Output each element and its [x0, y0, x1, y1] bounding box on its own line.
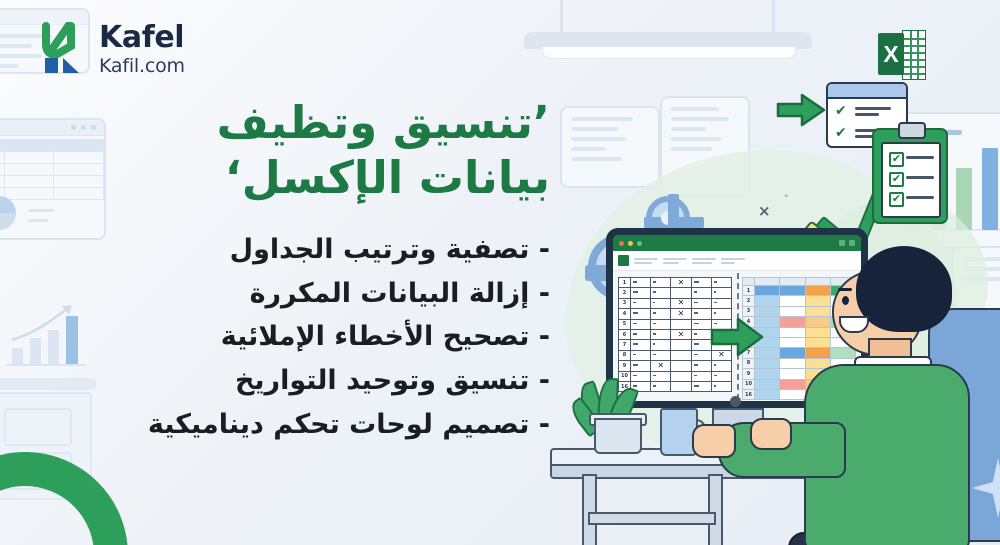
person-hair: [856, 246, 952, 332]
cell-text: [653, 343, 655, 345]
table-cell: [631, 361, 651, 371]
cell-text: [694, 333, 697, 335]
table-cell: [711, 288, 731, 298]
table-row: 9✕: [619, 361, 732, 371]
table-cell: [755, 306, 780, 316]
row-number: 3: [743, 306, 755, 316]
list-item: - تصحيح الأخطاء الإملائية: [40, 315, 550, 359]
row-number: 3: [619, 298, 631, 308]
monitor-camera-dot: [730, 396, 741, 407]
cell-text: [653, 354, 656, 356]
cell-text: [694, 281, 699, 283]
cell-text: [653, 291, 656, 293]
service-list: - تصفية وترتيب الجداول - إزالة البيانات …: [40, 228, 550, 447]
table-cell: ✕: [671, 278, 691, 288]
table-cell: [711, 278, 731, 288]
row-number: 10: [743, 379, 755, 389]
headline-line-1: ’تنسيق وتظيف: [40, 96, 550, 151]
table-cell: [651, 288, 671, 298]
person-at-desk-icon: [784, 246, 1000, 545]
cell-text: [653, 281, 656, 283]
cell-text: [633, 333, 637, 335]
row-number: 5: [619, 319, 631, 329]
table-cell: ✕: [671, 309, 691, 319]
cell-text: [653, 302, 655, 304]
cell-text: [694, 354, 698, 356]
workstation-illustration: × + ° ° ✔ ✔ ✔: [540, 60, 1000, 545]
cell-text: [633, 312, 638, 314]
cell-text: [633, 302, 636, 304]
ceiling-lamp-icon: [524, 0, 812, 60]
person-hand: [692, 424, 736, 458]
copy-block: ’تنسيق وتظيف بيانات الإكسل‘ - تصفية وترت…: [40, 96, 550, 446]
table-cell: [631, 319, 651, 329]
cell-text: [714, 312, 716, 314]
table-cell: [691, 371, 711, 381]
page-title: ’تنسيق وتظيف بيانات الإكسل‘: [40, 96, 550, 206]
row-number: 2: [619, 288, 631, 298]
cell-text: [694, 364, 699, 366]
brand-logo[interactable]: Kafel Kafil.com: [36, 22, 185, 76]
row-number: 1: [619, 278, 631, 288]
strikeout-icon: ✕: [678, 299, 685, 307]
table-cell: [671, 371, 691, 381]
cell-text: [633, 375, 637, 377]
table-cell: [651, 350, 671, 360]
cell-text: [633, 281, 637, 283]
row-number: 1: [743, 286, 755, 296]
table-cell: [691, 319, 711, 329]
table-cell: [671, 381, 691, 391]
cell-text: [694, 323, 699, 325]
table-row: 2: [619, 288, 732, 298]
check-icon: ✔: [835, 127, 847, 139]
cell-text: [653, 385, 656, 387]
table-cell: [755, 389, 780, 399]
cell-text: [653, 333, 656, 335]
check-icon: ✔: [889, 172, 904, 187]
table-cell: [691, 361, 711, 371]
cell-text: [633, 343, 638, 345]
cell-text: [653, 312, 656, 314]
cell-text: [714, 385, 717, 387]
desk-leg-right: [708, 474, 723, 545]
table-cell: [691, 278, 711, 288]
person-eye: [842, 296, 849, 305]
desk-leg-left: [582, 474, 597, 545]
table-cell: [691, 309, 711, 319]
green-arc-shape: [0, 452, 128, 545]
table-cell: [755, 379, 780, 389]
cell-text: [714, 291, 717, 293]
sparkle-icon: ×: [758, 202, 771, 220]
banner-canvas: Kafel Kafil.com X ’تنسيق وتظيف بيانات ال…: [0, 0, 1000, 545]
table-cell: [755, 369, 780, 379]
strikeout-icon: ✕: [657, 362, 664, 370]
cell-text: [633, 364, 638, 366]
table-cell: [711, 298, 731, 308]
strikeout-icon: ✕: [678, 331, 685, 339]
table-cell: [631, 298, 651, 308]
table-cell: [691, 298, 711, 308]
cell-text: [694, 385, 699, 387]
table-cell: [651, 319, 671, 329]
table-cell: [691, 329, 711, 339]
table-cell: [671, 288, 691, 298]
kafel-k-logo-icon: [36, 22, 88, 76]
cell-text: [694, 375, 698, 377]
table-cell: [631, 350, 651, 360]
row-number: 9: [619, 361, 631, 371]
table-cell: ✕: [671, 298, 691, 308]
table-cell: [651, 309, 671, 319]
table-cell: [631, 340, 651, 350]
row-number: 9: [743, 369, 755, 379]
table-cell: [755, 296, 780, 306]
green-right-arrow-icon: [776, 93, 826, 127]
table-cell: [671, 319, 691, 329]
sparkle-icon: °: [784, 194, 789, 204]
table-cell: [691, 340, 711, 350]
table-cell: [671, 350, 691, 360]
table-cell: [755, 358, 780, 368]
excel-logo-icon: [618, 255, 629, 266]
table-cell: [651, 298, 671, 308]
row-number: 8: [743, 358, 755, 368]
cell-text: [653, 323, 656, 325]
pie-chart-icon: [0, 196, 16, 230]
green-right-arrow-icon: [710, 317, 764, 357]
table-cell: [651, 381, 671, 391]
table-row: 1✕: [619, 278, 732, 288]
clip-icon: [898, 122, 926, 139]
cell-text: [633, 291, 638, 293]
clipboard-checklist-icon: ✔ ✔ ✔: [872, 128, 948, 224]
cell-text: [653, 375, 656, 377]
table-cell: [691, 350, 711, 360]
row-number: 4: [619, 309, 631, 319]
list-item: - تصميم لوحات تحكم ديناميكية: [40, 403, 550, 447]
brand-name: Kafel: [99, 23, 185, 53]
table-cell: [691, 381, 711, 391]
cell-text: [694, 343, 699, 345]
row-number: 8: [619, 350, 631, 360]
table-cell: [631, 329, 651, 339]
list-item: - تنسيق وتوحيد التواريخ: [40, 359, 550, 403]
person-hand: [750, 418, 792, 450]
column-header: [755, 278, 780, 286]
desk-crossbar: [588, 512, 716, 525]
table-cell: [711, 361, 731, 371]
cell-text: [694, 312, 698, 314]
table-cell: [631, 309, 651, 319]
table-cell: [671, 361, 691, 371]
row-number: 6: [619, 329, 631, 339]
brand-site: Kafil.com: [99, 57, 185, 76]
table-cell: [651, 371, 671, 381]
cell-text: [694, 291, 698, 293]
column-header: [743, 278, 755, 286]
row-number: 7: [619, 340, 631, 350]
strikeout-icon: ✕: [678, 279, 685, 287]
headline-line-2: بيانات الإكسل‘: [40, 151, 550, 206]
strikeout-icon: ✕: [678, 310, 685, 318]
person-eyebrow: [838, 288, 852, 291]
row-number: 16: [743, 389, 755, 399]
list-item: - تصفية وترتيب الجداول: [40, 228, 550, 272]
check-icon: ✔: [835, 105, 847, 117]
table-cell: [651, 278, 671, 288]
row-number: 2: [743, 296, 755, 306]
cell-text: [714, 281, 717, 283]
table-cell: [631, 288, 651, 298]
table-cell: ✕: [651, 361, 671, 371]
table-cell: [671, 340, 691, 350]
table-cell: [651, 329, 671, 339]
table-cell: ✕: [671, 329, 691, 339]
table-row: 3✕: [619, 298, 732, 308]
table-cell: [711, 381, 731, 391]
table-cell: [631, 278, 651, 288]
table-cell: [755, 286, 780, 296]
cell-text: [633, 323, 637, 325]
check-icon: ✔: [889, 152, 904, 167]
cell-text: [714, 302, 717, 304]
cell-text: [694, 302, 699, 304]
table-cell: [711, 371, 731, 381]
potted-plant-icon: [576, 378, 650, 454]
table-cell: [691, 288, 711, 298]
list-item: - إزالة البيانات المكررة: [40, 272, 550, 316]
check-icon: ✔: [889, 192, 904, 207]
cell-text: [714, 364, 716, 366]
cell-text: [633, 354, 636, 356]
table-cell: [651, 340, 671, 350]
cell-text: [714, 375, 717, 377]
